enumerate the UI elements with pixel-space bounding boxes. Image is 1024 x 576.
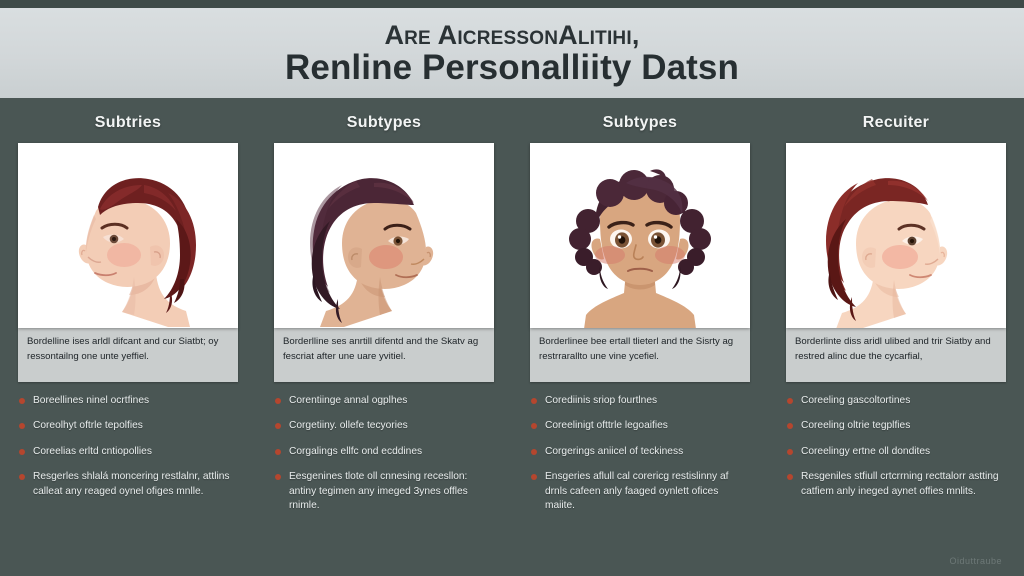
column-1-bullet-list: Boreellines ninel ocrtfines Coreolhyt of…	[18, 394, 238, 499]
list-item: Ensgeries aflull cal corericg restislinn…	[530, 470, 750, 513]
list-item: Resgerles shlalá moncering restlalnr, at…	[18, 470, 238, 499]
list-item-label: Coreelingy ertne oll dondites	[801, 446, 930, 457]
top-frame-border	[0, 0, 1024, 8]
list-item-label: Coreeling oltrie tegplfies	[801, 420, 910, 431]
column-1-description: Bordelline ises arldl difcant and cur Si…	[18, 328, 238, 382]
list-item-label: Resgerles shlalá moncering restlalnr, at…	[33, 471, 229, 496]
list-item-label: Coreelinigt ofttrle legoaifies	[545, 420, 668, 431]
bullet-dot-icon	[787, 449, 793, 455]
list-item-label: Eesgenines tlote oll cnnesing recesllon:…	[289, 471, 468, 511]
column-1-header: Subtries	[18, 114, 238, 132]
list-item: Corgerings aniicel of teckiness	[530, 445, 750, 459]
list-item: Eesgenines tlote oll cnnesing recesllon:…	[274, 470, 494, 513]
column-1: Subtries	[0, 98, 256, 576]
list-item-label: Corgalings ellfc ond ecddines	[289, 446, 422, 457]
list-item: Coreolhyt oftrle tepolfies	[18, 419, 238, 433]
column-4-portrait-card	[786, 143, 1006, 328]
list-item: Coreelias erltd cntiopollies	[18, 445, 238, 459]
page-title-line-2: Renline Personalliity Datsn	[285, 49, 739, 88]
column-4-bullet-list: Coreeling gascoltortines Coreeling oltri…	[786, 394, 1006, 499]
column-3-description: Borderlinee bee ertall tlieterl and the …	[530, 328, 750, 382]
column-4: Recuiter	[768, 98, 1024, 576]
column-2: Subtypes	[256, 98, 512, 576]
list-item-label: Coreolhyt oftrle tepolfies	[33, 420, 143, 431]
column-2-description: Borderlline ses anrtill difentd and the …	[274, 328, 494, 382]
list-item-label: Boreellines ninel ocrtfines	[33, 395, 149, 406]
bullet-dot-icon	[19, 423, 25, 429]
list-item-label: Corgerings aniicel of teckiness	[545, 446, 683, 457]
list-item-label: Ensgeries aflull cal corericg restislinn…	[545, 471, 728, 511]
bullet-dot-icon	[531, 449, 537, 455]
columns-container: Subtries	[0, 98, 1024, 576]
infographic-poster: Are AicressonAlitihi, Renline Personalli…	[0, 0, 1024, 576]
column-3-header: Subtypes	[530, 114, 750, 132]
column-4-description: Borderlinte diss aridl ulibed and trir S…	[786, 328, 1006, 382]
list-item: Coreelinigt ofttrle legoaifies	[530, 419, 750, 433]
column-4-header: Recuiter	[786, 114, 1006, 132]
bullet-dot-icon	[275, 398, 281, 404]
bullet-dot-icon	[275, 449, 281, 455]
column-1-portrait-card	[18, 143, 238, 328]
bullet-dot-icon	[275, 474, 281, 480]
column-3-portrait-card	[530, 143, 750, 328]
list-item: Coreeling oltrie tegplfies	[786, 419, 1006, 433]
bullet-dot-icon	[19, 449, 25, 455]
list-item: Corgetiiny. ollefe tecyories	[274, 419, 494, 433]
title-banner: Are AicressonAlitihi, Renline Personalli…	[0, 8, 1024, 98]
column-2-portrait-card	[274, 143, 494, 328]
page-title-line-1: Are AicressonAlitihi,	[384, 20, 639, 50]
list-item: Corgalings ellfc ond ecddines	[274, 445, 494, 459]
column-2-header: Subtypes	[274, 114, 494, 132]
front-portrait-curly-hair-icon	[530, 143, 750, 328]
list-item: Corentiinge annal ogplhes	[274, 394, 494, 408]
bullet-dot-icon	[19, 474, 25, 480]
list-item: Coreelingy ertne oll dondites	[786, 445, 1006, 459]
bullet-dot-icon	[787, 474, 793, 480]
list-item-label: Coreeling gascoltortines	[801, 395, 910, 406]
list-item-label: Corediinis sriop fourtlnes	[545, 395, 657, 406]
list-item-label: Corgetiiny. ollefe tecyories	[289, 420, 408, 431]
bullet-dot-icon	[531, 398, 537, 404]
bullet-dot-icon	[787, 398, 793, 404]
profile-portrait-left-facing-icon	[18, 143, 238, 328]
profile-portrait-right-facing-auburn-icon	[786, 143, 1006, 328]
bullet-dot-icon	[275, 423, 281, 429]
bullet-dot-icon	[531, 474, 537, 480]
profile-portrait-right-facing-dark-icon	[274, 143, 494, 328]
list-item-label: Corentiinge annal ogplhes	[289, 395, 407, 406]
column-3-bullet-list: Corediinis sriop fourtlnes Coreelinigt o…	[530, 394, 750, 514]
list-item-label: Coreelias erltd cntiopollies	[33, 446, 152, 457]
list-item: Resgeniles stfiull crtcrrning recttalorr…	[786, 470, 1006, 499]
bullet-dot-icon	[787, 423, 793, 429]
list-item-label: Resgeniles stfiull crtcrrning recttalorr…	[801, 471, 999, 496]
column-2-bullet-list: Corentiinge annal ogplhes Corgetiiny. ol…	[274, 394, 494, 514]
column-3: Subtypes	[512, 98, 768, 576]
list-item: Coreeling gascoltortines	[786, 394, 1006, 408]
list-item: Boreellines ninel ocrtfines	[18, 394, 238, 408]
watermark: Oiduttraube	[949, 556, 1002, 566]
bullet-dot-icon	[531, 423, 537, 429]
list-item: Corediinis sriop fourtlnes	[530, 394, 750, 408]
bullet-dot-icon	[19, 398, 25, 404]
